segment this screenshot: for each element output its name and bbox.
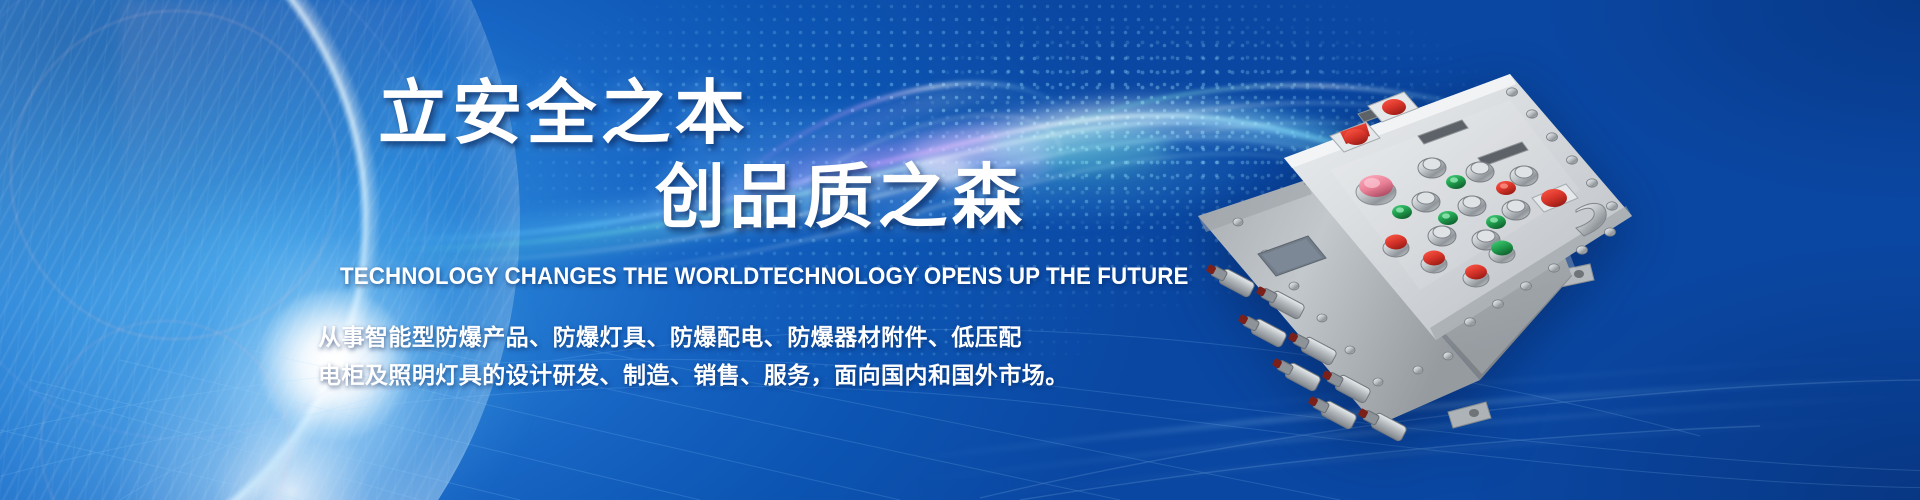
headline-line-1: 立安全之本 — [378, 78, 749, 148]
push-button-red — [1421, 251, 1447, 274]
indicator-lamp-green — [1438, 211, 1458, 225]
push-button-red — [1496, 181, 1516, 195]
indicator-lamp-green — [1486, 215, 1506, 229]
description-line-2: 电柜及照明灯具的设计研发、制造、销售、服务，面向国内和国外市场。 — [318, 356, 1058, 394]
hero-banner: 立安全之本 创品质之森 TECHNOLOGY CHANGES THE WORLD… — [0, 0, 1920, 500]
banner-copy: 立安全之本 创品质之森 TECHNOLOGY CHANGES THE WORLD… — [0, 0, 1100, 500]
push-button-red — [1383, 235, 1409, 258]
indicator-lamp-green — [1489, 241, 1515, 264]
indicator-lamp-green — [1446, 175, 1466, 189]
product-image-explosion-proof-control-box — [1180, 40, 1740, 480]
push-button-red — [1463, 265, 1489, 288]
indicator-lamp-green — [1392, 205, 1412, 219]
description-block: 从事智能型防爆产品、防爆灯具、防爆配电、防爆器材附件、低压配 电柜及照明灯具的设… — [318, 318, 1058, 394]
description-line-1: 从事智能型防爆产品、防爆灯具、防爆配电、防爆器材附件、低压配 — [318, 318, 1058, 356]
english-tagline: TECHNOLOGY CHANGES THE WORLDTECHNOLOGY O… — [340, 263, 1188, 291]
headline-line-2: 创品质之森 — [655, 162, 1026, 232]
